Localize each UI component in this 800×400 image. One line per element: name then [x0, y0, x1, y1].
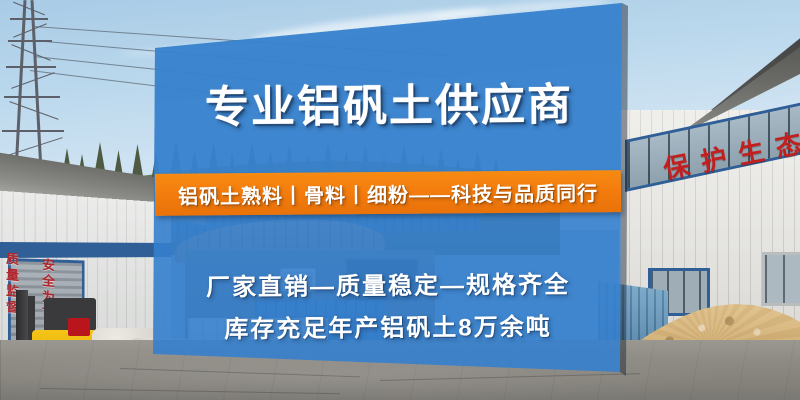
page-title: 专业铝矾土供应商: [155, 80, 623, 134]
subline-secondary: 库存充足年产铝矾土8万余吨: [155, 306, 621, 345]
banner-stage: 质量监督 安全为首 保护生态: [0, 0, 800, 400]
orange-ribbon: 铝矾土熟料丨骨料丨细粉——科技与品质同行: [155, 170, 621, 216]
ribbon-label: 铝矾土熟料丨骨料丨细粉——科技与品质同行: [178, 177, 598, 209]
banner-content: 专业铝矾土供应商 铝矾土熟料丨骨料丨细粉——科技与品质同行 厂家直销—质量稳定—…: [0, 0, 800, 400]
subline-primary: 厂家直销—质量稳定—规格齐全: [155, 264, 621, 303]
